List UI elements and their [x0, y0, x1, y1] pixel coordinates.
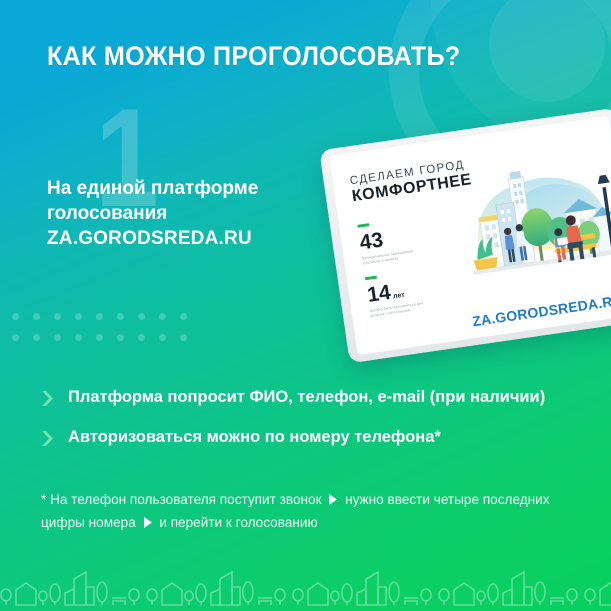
bullet-list: Платформа попросит ФИО, телефон, e-mail … — [40, 386, 560, 466]
city-skyline-decoration — [0, 547, 611, 611]
tablet-screen: СДЕЛАЕМ ГОРОД КОМФОРТНЕЕ 43 муниципальны… — [329, 116, 611, 355]
chevron-right-icon — [40, 390, 57, 412]
infographic-poster: КАК МОЖНО ПРОГОЛОСОВАТЬ? 1 На единой пла… — [0, 0, 611, 611]
footnote: * На телефон пользователя поступит звоно… — [41, 489, 586, 535]
footnote-part-3: и перейти к голосованию — [159, 515, 317, 530]
page-title: КАК МОЖНО ПРОГОЛОСОВАТЬ? — [47, 41, 460, 72]
city-park-illustration — [450, 144, 611, 305]
step-line-1: На единой платформе — [47, 176, 337, 201]
tablet-device-mockup: СДЕЛАЕМ ГОРОД КОМФОРТНЕЕ 43 муниципальны… — [319, 108, 611, 364]
bullet-item: Авторизоваться можно по номеру телефона* — [40, 426, 560, 452]
step-line-2: голосования — [47, 201, 337, 226]
tablet-stat-age: 14лет должно было исполниться для допуск… — [365, 268, 436, 320]
bullet-item: Платформа попросит ФИО, телефон, e-mail … — [40, 386, 560, 412]
bullet-text: Авторизоваться можно по номеру телефона* — [68, 426, 441, 448]
stat-dash-icon — [357, 223, 369, 228]
step-description: На единой платформе голосования ZA.GOROD… — [47, 176, 337, 251]
footnote-part-1: На телефон пользователя поступит звонок — [50, 492, 321, 507]
triangle-right-icon — [143, 513, 153, 535]
stat-number: 14 — [366, 281, 392, 307]
stat-unit: лет — [393, 292, 405, 301]
triangle-right-icon — [328, 490, 338, 512]
footnote-marker: * — [41, 492, 46, 507]
stat-dash-icon — [365, 276, 377, 281]
dot-grid-decoration — [5, 306, 194, 348]
chevron-right-icon — [40, 430, 57, 452]
tablet-stat-municipalities: 43 муниципальных образований участвуют в… — [357, 215, 428, 267]
bullet-text: Платформа попросит ФИО, телефон, e-mail … — [68, 386, 545, 408]
decorative-circle-fill — [489, 0, 605, 102]
step-url: ZA.GORODSREDA.RU — [47, 226, 337, 251]
